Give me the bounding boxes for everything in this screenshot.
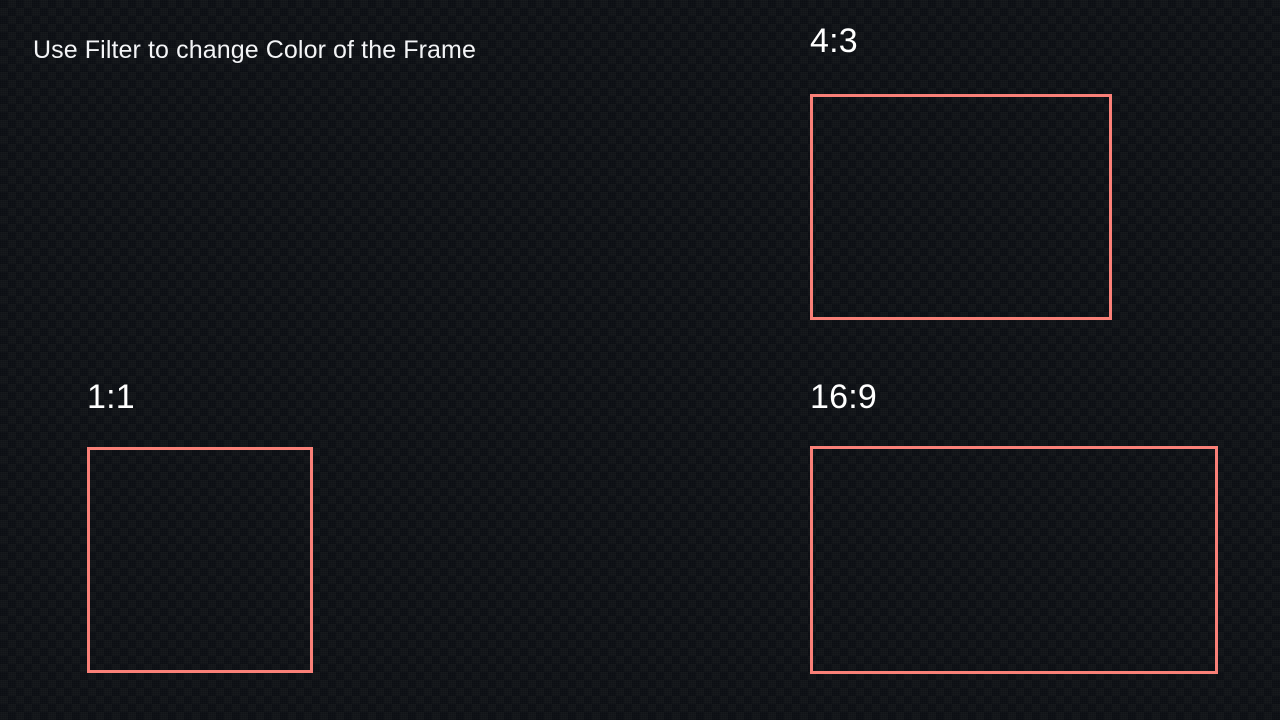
aspect-ratio-label-1-1: 1:1 — [87, 378, 135, 416]
aspect-ratio-label-16-9: 16:9 — [810, 378, 877, 416]
aspect-ratio-frame-1-1[interactable] — [87, 447, 313, 673]
aspect-ratio-label-4-3: 4:3 — [810, 22, 858, 60]
instruction-headline: Use Filter to change Color of the Frame — [33, 35, 476, 65]
preview-canvas: Use Filter to change Color of the Frame … — [0, 0, 1280, 720]
aspect-ratio-frame-16-9[interactable] — [810, 446, 1218, 674]
aspect-ratio-frame-4-3[interactable] — [810, 94, 1112, 320]
